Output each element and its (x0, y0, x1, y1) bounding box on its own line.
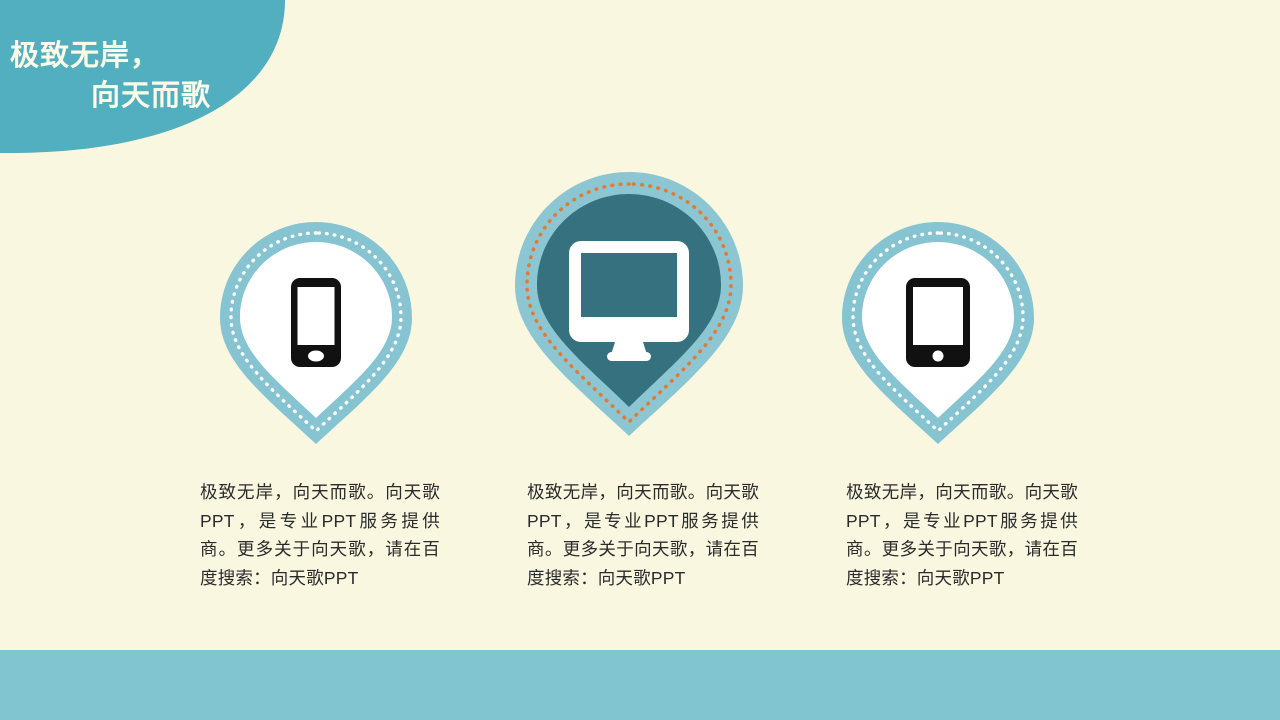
pin-right-shape (842, 222, 1034, 444)
caption-left: 极致无岸，向天而歌。向天歌PPT，是专业PPT服务提供商。更多关于向天歌，请在百… (200, 478, 440, 592)
pin-left[interactable] (220, 222, 412, 444)
page-title: 极致无岸， 向天而歌 (0, 36, 225, 116)
caption-right: 极致无岸，向天而歌。向天歌PPT，是专业PPT服务提供商。更多关于向天歌，请在百… (846, 478, 1078, 592)
caption-group: 极致无岸，向天而歌。向天歌PPT，是专业PPT服务提供商。更多关于向天歌，请在百… (0, 468, 1280, 608)
caption-center: 极致无岸，向天而歌。向天歌PPT，是专业PPT服务提供商。更多关于向天歌，请在百… (527, 478, 759, 592)
pin-right[interactable] (842, 222, 1034, 444)
pin-center-shape (515, 172, 743, 436)
pin-left-shape (220, 222, 412, 444)
footer-bar (0, 650, 1280, 720)
slide-canvas: 极致无岸， 向天而歌 (0, 0, 1280, 720)
pin-center[interactable] (515, 172, 743, 436)
page-title-line-2: 向天而歌 (0, 76, 225, 116)
page-title-line-1: 极致无岸， (0, 36, 225, 76)
